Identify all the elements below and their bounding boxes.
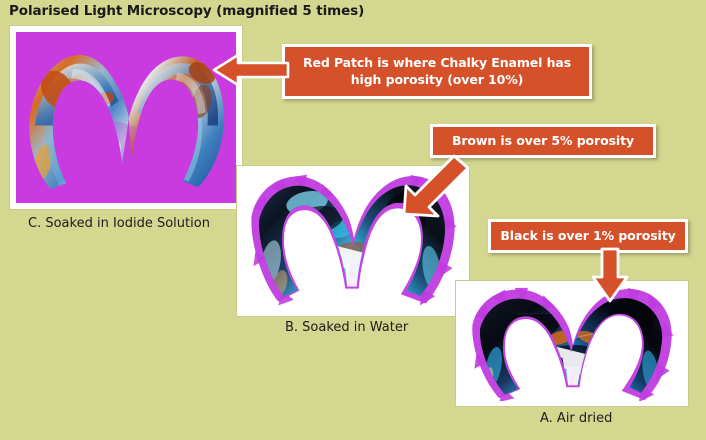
caption-panel-c: C. Soaked in Iodide Solution — [28, 216, 210, 231]
micrograph-panel-a — [456, 281, 688, 406]
callout-brown-text: Brown is over 5% porosity — [452, 133, 634, 150]
callout-red-patch[interactable]: Red Patch is where Chalky Enamel has hig… — [282, 44, 592, 99]
callout-brown-porosity[interactable]: Brown is over 5% porosity — [430, 124, 656, 158]
micrograph-image-b — [242, 171, 464, 311]
micrograph-image-c — [16, 32, 236, 203]
tooth-section-illustration-b — [242, 171, 464, 311]
tooth-section-illustration-a — [461, 286, 683, 401]
micrograph-panel-b — [237, 166, 469, 316]
caption-panel-a: A. Air dried — [540, 411, 612, 426]
callout-red-text-before: Red Patch is where — [303, 55, 440, 70]
callout-red-text-emphasis: Chalky — [440, 55, 487, 70]
tooth-section-illustration-c — [16, 32, 236, 203]
page-title: Polarised Light Microscopy (magnified 5 … — [9, 3, 364, 19]
callout-black-text: Black is over 1% porosity — [500, 228, 675, 245]
micrograph-panel-c — [10, 26, 242, 209]
callout-red-text: Red Patch is where Chalky Enamel has hig… — [293, 55, 581, 89]
caption-panel-b: B. Soaked in Water — [285, 320, 408, 335]
micrograph-image-a — [461, 286, 683, 401]
slide-canvas: Polarised Light Microscopy (magnified 5 … — [0, 0, 706, 440]
callout-black-porosity[interactable]: Black is over 1% porosity — [488, 219, 688, 253]
